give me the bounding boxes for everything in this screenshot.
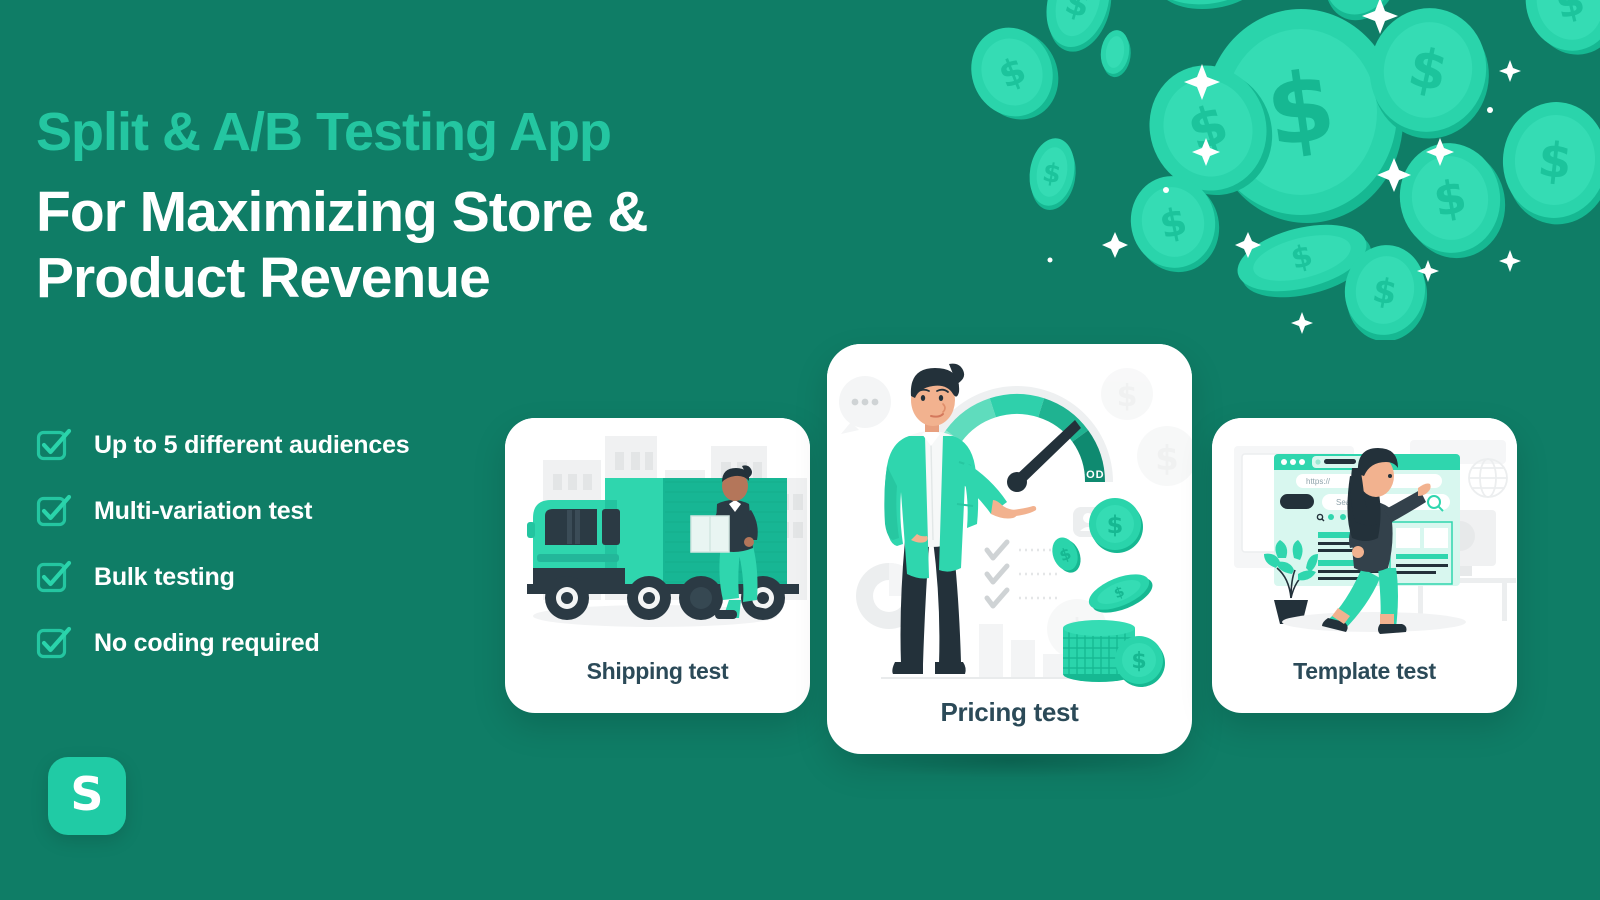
card-title-shipping: Shipping test (505, 658, 810, 713)
svg-text:$: $ (1155, 439, 1179, 479)
svg-text:$: $ (1535, 131, 1574, 190)
checkbox-checked-icon (36, 493, 72, 529)
svg-text:$: $ (1430, 169, 1471, 228)
app-logo-letter: S (70, 771, 103, 817)
card-title-pricing: Pricing test (827, 697, 1192, 754)
svg-text:$: $ (1370, 270, 1400, 314)
hero-title: For Maximizing Store & Product Revenue (36, 179, 796, 311)
checkbox-checked-icon (36, 427, 72, 463)
card-template-test[interactable]: https:// Search (1212, 418, 1517, 713)
svg-text:$: $ (1260, 49, 1342, 169)
hero-eyebrow: Split & A/B Testing App (36, 104, 796, 161)
feature-label: Multi-variation test (94, 497, 312, 526)
feature-list: Up to 5 different audiences Multi-variat… (36, 412, 556, 676)
feature-label: Up to 5 different audiences (94, 431, 410, 460)
man-pointing-at-price-gauge-with-coins-illustration: $ $ $ (827, 344, 1192, 697)
hero-title-line-1: For Maximizing Store & (36, 179, 796, 245)
svg-text:$: $ (1403, 35, 1453, 104)
app-logo[interactable]: S (48, 757, 126, 835)
checkbox-checked-icon (36, 559, 72, 595)
svg-text:$: $ (993, 50, 1032, 97)
svg-text:$: $ (1156, 199, 1191, 248)
svg-text:https://: https:// (1306, 477, 1331, 486)
card-title-template: Template test (1212, 658, 1517, 713)
feature-item-no-coding: No coding required (36, 610, 556, 676)
hero-text-block: Split & A/B Testing App For Maximizing S… (36, 104, 796, 311)
feature-item-audiences: Up to 5 different audiences (36, 412, 556, 478)
card-shipping-test[interactable]: Shipping test (505, 418, 810, 713)
svg-text:$: $ (1288, 238, 1317, 277)
svg-text:$: $ (1131, 649, 1146, 674)
checkbox-checked-icon (36, 625, 72, 661)
svg-text:$: $ (1040, 158, 1063, 191)
promo-banner: $ $ $ $ (0, 0, 1600, 900)
delivery-truck-with-courier-illustration (505, 418, 810, 658)
svg-text:$: $ (1117, 379, 1138, 414)
hero-title-line-2: Product Revenue (36, 245, 796, 311)
feature-item-multi-variation: Multi-variation test (36, 478, 556, 544)
woman-editing-website-template-illustration: https:// Search (1212, 418, 1517, 658)
svg-text:$: $ (1061, 0, 1095, 26)
falling-coins-decoration: $ $ $ $ (930, 0, 1600, 340)
svg-text:$: $ (1107, 511, 1124, 539)
feature-label: No coding required (94, 629, 320, 658)
card-pricing-test[interactable]: $ $ $ (827, 344, 1192, 754)
svg-text:GOOD: GOOD (1067, 469, 1105, 481)
svg-text:$: $ (1180, 92, 1235, 164)
svg-text:$: $ (1551, 0, 1589, 29)
feature-item-bulk-testing: Bulk testing (36, 544, 556, 610)
feature-label: Bulk testing (94, 563, 235, 592)
